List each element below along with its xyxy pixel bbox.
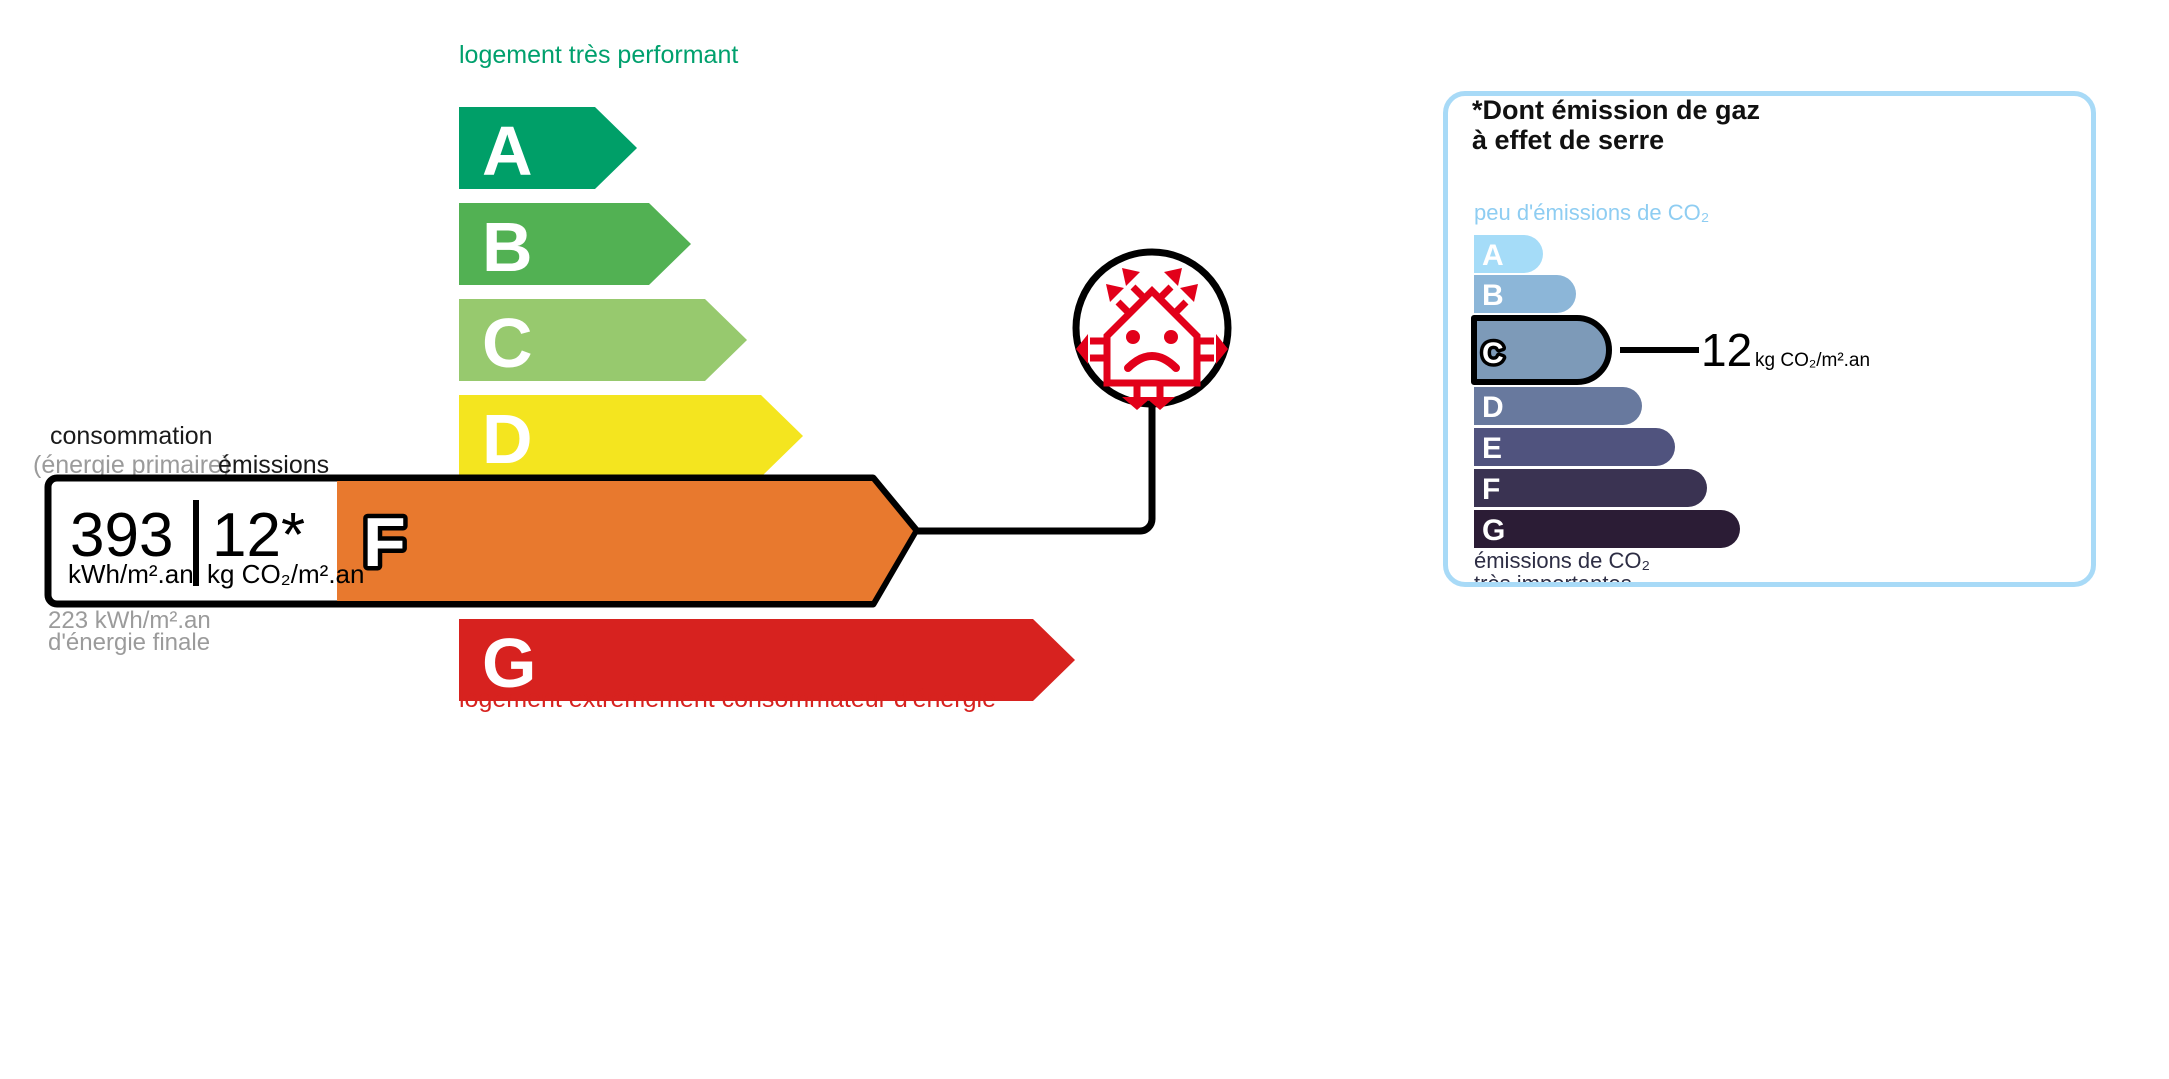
consumption-unit: kWh/m².an xyxy=(68,559,194,589)
ges-top-caption: peu d'émissions de CO₂ xyxy=(1474,200,1709,225)
ges-bar-b[interactable]: B xyxy=(1474,275,1576,313)
house-eye-left xyxy=(1126,330,1140,344)
ges-bar-g[interactable]: G xyxy=(1474,510,1740,548)
ges-panel: *Dont émission de gaz à effet de serre p… xyxy=(1443,91,2096,587)
energy-band-b-letter: B xyxy=(482,208,533,286)
energy-summary-and-f-band[interactable]: 393 kWh/m².an 12* kg CO₂/m².an F xyxy=(48,478,916,604)
ges-bar-f-shape xyxy=(1474,469,1707,507)
ges-bar-c[interactable]: C 12 kg CO₂/m².an xyxy=(1474,318,1870,382)
ges-value: 12 xyxy=(1701,324,1752,376)
emissions-unit: kg CO₂/m².an xyxy=(207,559,364,589)
energy-band-a-letter: A xyxy=(482,112,533,190)
energy-band-f-letter: F xyxy=(363,503,406,581)
ges-bar-e[interactable]: E xyxy=(1474,428,1675,466)
ges-bar-g-shape xyxy=(1474,510,1740,548)
ges-bottom-caption-line2: très importantes xyxy=(1474,571,1632,582)
ges-bar-b-letter: B xyxy=(1482,279,1504,312)
ges-bar-c-letter: C xyxy=(1482,337,1504,370)
energy-scale-chart: logement très performant A B C D E conso… xyxy=(0,0,1300,1079)
dpe-infographic: logement très performant A B C D E conso… xyxy=(0,0,2169,1079)
energy-band-d-letter: D xyxy=(482,400,533,478)
energy-top-caption: logement très performant xyxy=(459,41,738,69)
ges-bar-g-letter: G xyxy=(1482,514,1505,547)
energy-band-c-letter: C xyxy=(482,304,533,382)
ges-bar-e-letter: E xyxy=(1482,432,1502,465)
energy-band-c[interactable]: C xyxy=(459,299,747,382)
ges-chart: *Dont émission de gaz à effet de serre p… xyxy=(1448,96,2091,582)
ges-bar-d[interactable]: D xyxy=(1474,387,1642,425)
ges-bar-e-shape xyxy=(1474,428,1675,466)
final-energy-line2: d'énergie finale xyxy=(48,629,210,656)
ges-bottom-caption-line1: émissions de CO₂ xyxy=(1474,548,1650,573)
ges-bar-a[interactable]: A xyxy=(1474,235,1543,273)
ges-bar-d-letter: D xyxy=(1482,391,1504,424)
energy-bottom-caption: logement extrêmement consommateur d'éner… xyxy=(459,685,996,713)
consumption-label-line1: consommation xyxy=(50,422,213,450)
ges-bar-f[interactable]: F xyxy=(1474,469,1707,507)
sad-house-heat-loss-icon xyxy=(1076,252,1228,410)
badge-connector-line xyxy=(916,400,1152,531)
energy-band-b[interactable]: B xyxy=(459,203,691,286)
ges-bar-f-letter: F xyxy=(1482,473,1500,506)
energy-band-f-shape xyxy=(337,481,913,601)
ges-bar-a-letter: A xyxy=(1482,239,1504,272)
ges-title-line2: à effet de serre xyxy=(1472,125,1664,155)
energy-band-a[interactable]: A xyxy=(459,107,637,190)
ges-title-line1: *Dont émission de gaz xyxy=(1472,96,1760,125)
ges-unit: kg CO₂/m².an xyxy=(1755,350,1870,371)
house-eye-right xyxy=(1164,330,1178,344)
energy-band-d[interactable]: D xyxy=(459,395,803,478)
